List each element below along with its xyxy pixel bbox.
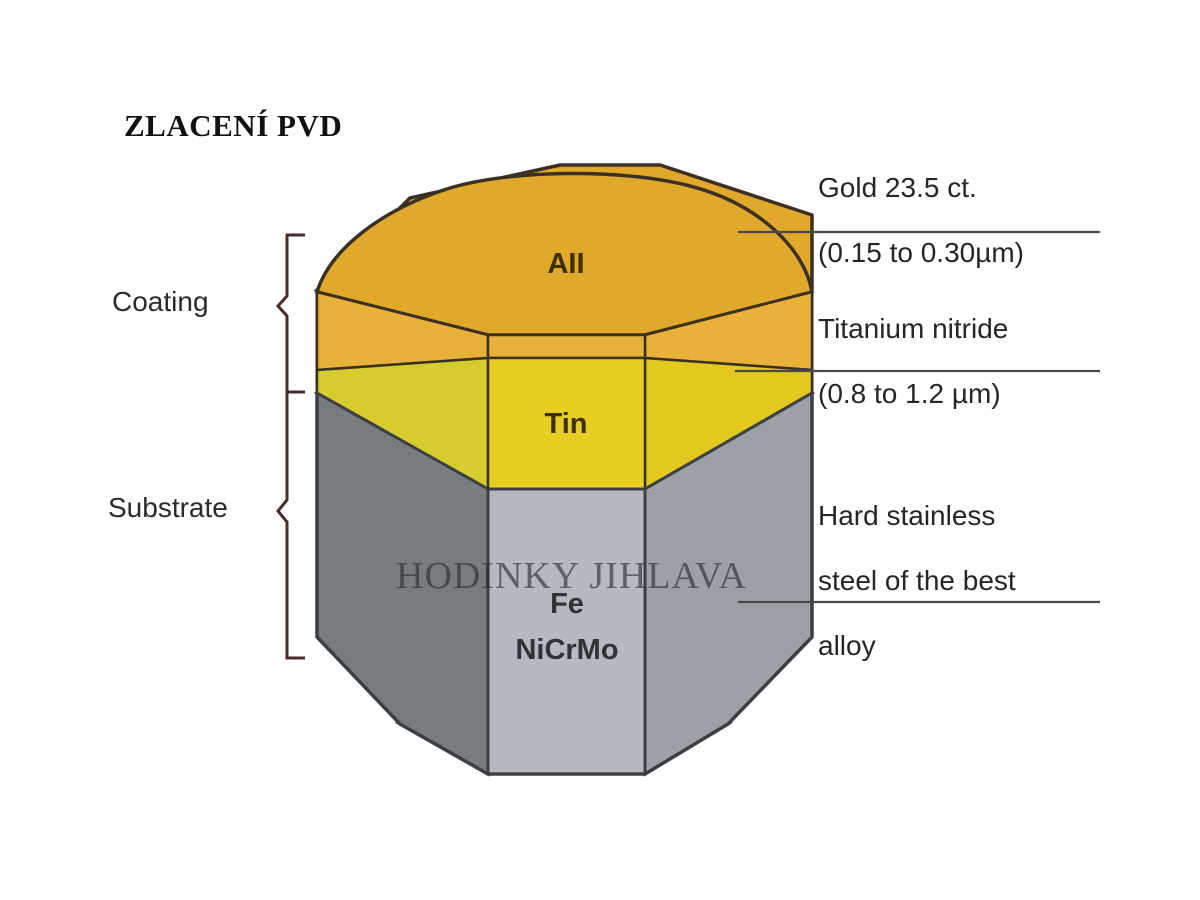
gold-band-front-visible [488, 335, 645, 358]
bracket-coating [278, 235, 305, 392]
prism-label-gold: AII [536, 248, 596, 281]
callout-stainless-steel-line3: alloy [818, 630, 1016, 662]
watermark: HODINKY JIHLAVA [396, 554, 747, 598]
callout-stainless-steel: Hard stainless steel of the best alloy [818, 468, 1016, 695]
callout-titanium-nitride-line1: Titanium nitride [818, 313, 1008, 345]
callout-stainless-steel-line2: steel of the best [818, 565, 1016, 597]
bracket-label-substrate: Substrate [108, 491, 228, 524]
callout-titanium-nitride: Titanium nitride (0.8 to 1.2 µm) [818, 281, 1008, 443]
bracket-label-coating: Coating [112, 285, 209, 318]
callout-titanium-nitride-line2: (0.8 to 1.2 µm) [818, 378, 1008, 410]
steel-front-face-visible [488, 489, 645, 774]
callout-gold-line2: (0.15 to 0.30µm) [818, 237, 1024, 269]
prism-label-substrate-nicrmo: NiCrMo [492, 634, 642, 667]
callout-gold: Gold 23.5 ct. (0.15 to 0.30µm) [818, 140, 1024, 302]
callout-gold-line1: Gold 23.5 ct. [818, 172, 1024, 204]
callout-stainless-steel-line1: Hard stainless [818, 500, 1016, 532]
bracket-substrate [278, 392, 305, 658]
prism-label-tin: Tin [533, 408, 599, 441]
page-title: ZLACENÍ PVD [124, 108, 342, 144]
